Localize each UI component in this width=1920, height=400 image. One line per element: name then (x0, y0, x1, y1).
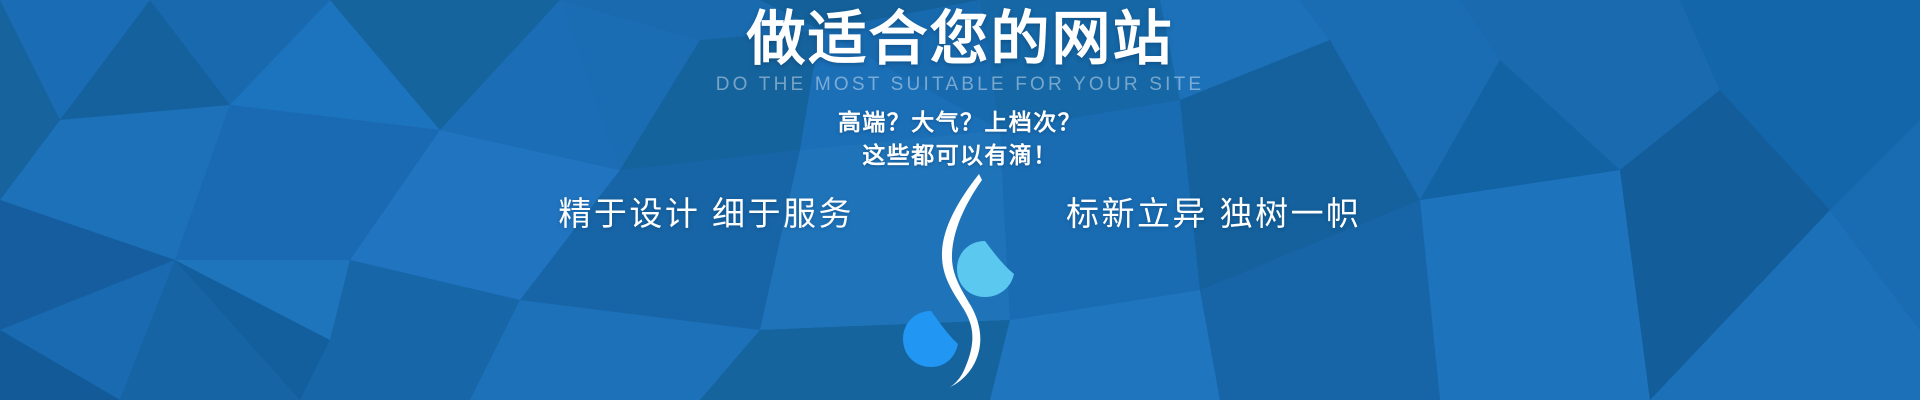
slogan-left: 精于设计 细于服务 (470, 187, 900, 235)
question-line-1: 高端？大气？上档次？ (0, 106, 1920, 139)
page-title: 做适合您的网站 (0, 8, 1920, 72)
page-subtitle-english: DO THE MOST SUITABLE FOR YOUR SITE (0, 74, 1920, 96)
headline-block: 做适合您的网站 DO THE MOST SUITABLE FOR YOUR SI… (0, 8, 1920, 96)
hero-banner: 做适合您的网站 DO THE MOST SUITABLE FOR YOUR SI… (0, 0, 1920, 400)
question-line-2: 这些都可以有滴！ (0, 139, 1920, 172)
slogan-row: 精于设计 细于服务 标新立异 独树一帜 (0, 181, 1920, 241)
question-block: 高端？大气？上档次？ 这些都可以有滴！ (0, 106, 1920, 171)
slogan-right: 标新立异 独树一帜 (1020, 187, 1450, 235)
